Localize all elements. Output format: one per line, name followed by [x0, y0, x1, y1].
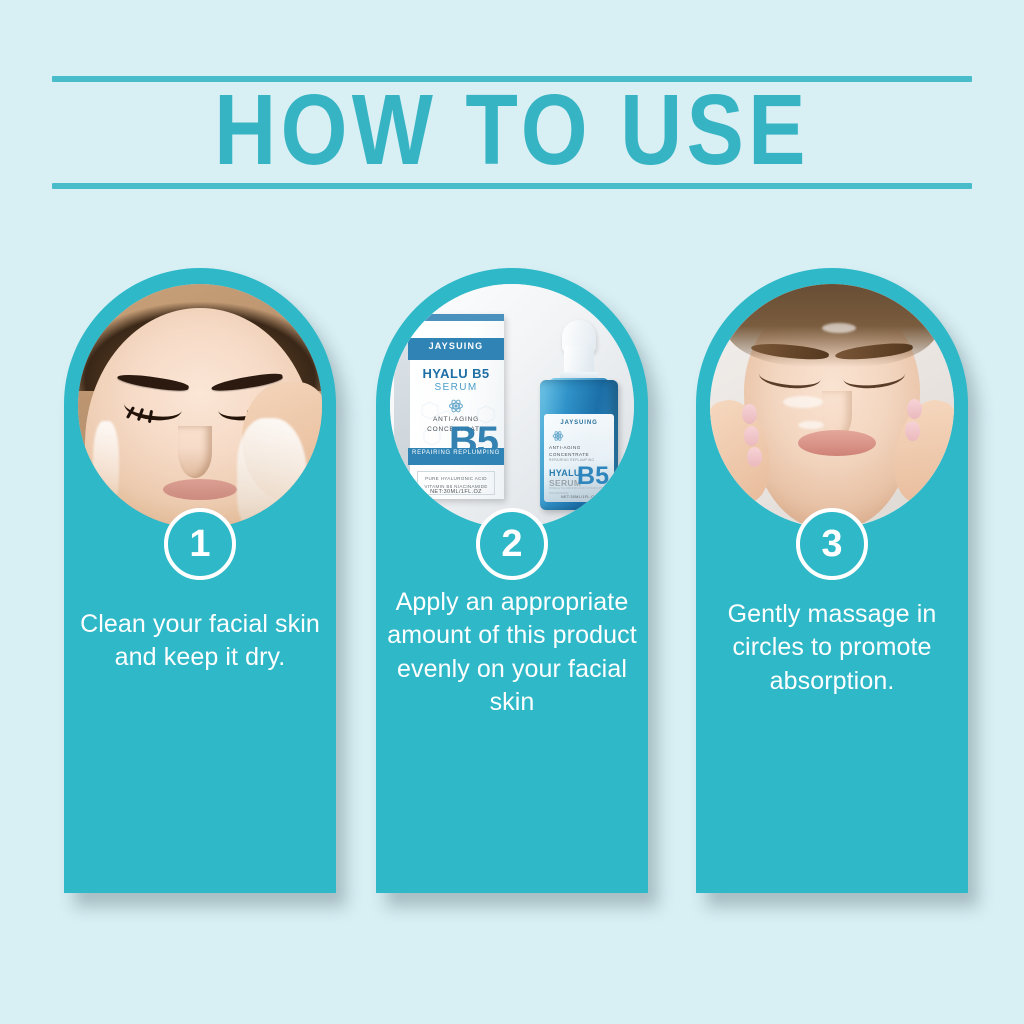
lips-shape: [163, 479, 237, 500]
bottle-descriptor: ANTI-AGING CONCENTRATE: [549, 445, 589, 459]
step-3-photo: [710, 284, 954, 528]
box-top-band: [408, 314, 504, 321]
water-splash: [93, 421, 119, 511]
box-band-text: REPAIRING REPLUMPING: [408, 450, 504, 456]
step-caption-2: Apply an appropriate amount of this prod…: [386, 586, 638, 719]
box-net-volume: NET:30ML/1FL.OZ: [408, 489, 504, 495]
woman-washing-face-illustration: [78, 284, 322, 528]
woman-massaging-face-illustration: [710, 284, 954, 528]
bottle-product-name: HYALU: [549, 468, 581, 478]
step-1-photo: [78, 284, 322, 528]
nose-shape: [178, 426, 212, 478]
step-card-3: 3 Gently massage in circles to promote a…: [696, 268, 968, 893]
fingernail: [907, 399, 922, 419]
step-caption-3: Gently massage in circles to promote abs…: [706, 598, 958, 698]
fingernail: [744, 426, 759, 446]
atom-icon: [552, 430, 564, 442]
header: HOW TO USE: [0, 0, 1024, 230]
fingernail: [742, 404, 757, 424]
product-illustration: JAYSUING HYALU B5 SERUM ANT: [390, 284, 634, 528]
bottle-net-volume: NET:30ML/1FL.OZ: [544, 495, 614, 499]
atom-icon: [448, 398, 464, 414]
box-brand-text: JAYSUING: [408, 341, 504, 351]
water-splash: [237, 418, 307, 528]
fingernail: [747, 447, 762, 467]
lips-shape: [798, 430, 876, 456]
title-rule-bottom: [52, 183, 972, 189]
steps-container: 1 Clean your facial skin and keep it dry…: [0, 268, 1024, 928]
how-to-use-infographic: HOW TO USE: [0, 0, 1024, 1024]
bottle-descriptor-line2: CONCENTRATE: [549, 452, 589, 457]
skin-gloss: [798, 421, 824, 429]
box-product-subtitle: SERUM: [408, 382, 504, 393]
bottle-body: JAYSUING AN: [540, 380, 618, 510]
bottle-descriptor-line1: ANTI-AGING: [549, 445, 581, 450]
step-caption-1: Clean your facial skin and keep it dry.: [74, 608, 326, 675]
box-ingredients-line1: PURE HYALURONIC ACID: [425, 476, 487, 481]
step-card-2: JAYSUING HYALU B5 SERUM ANT: [376, 268, 648, 893]
fingernail: [905, 421, 920, 441]
page-title: HOW TO USE: [72, 78, 953, 182]
step-number-badge-2: 2: [476, 508, 548, 580]
step-2-photo: JAYSUING HYALU B5 SERUM ANT: [390, 284, 634, 528]
product-box: JAYSUING HYALU B5 SERUM ANT: [408, 314, 504, 499]
bottle-brand-text: JAYSUING: [544, 420, 614, 426]
box-product-name: HYALU B5: [408, 366, 504, 381]
product-bottle: JAYSUING AN: [540, 320, 618, 510]
step-card-1: 1 Clean your facial skin and keep it dry…: [64, 268, 336, 893]
step-number-badge-1: 1: [164, 508, 236, 580]
step-number-badge-3: 3: [796, 508, 868, 580]
bottle-label: JAYSUING AN: [544, 414, 614, 502]
